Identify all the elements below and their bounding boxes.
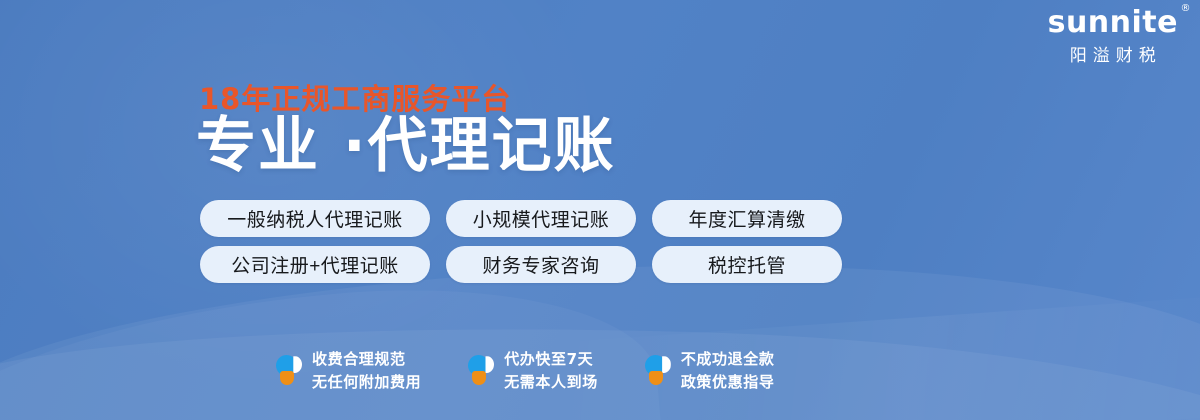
bulb-icon-base xyxy=(649,371,663,385)
feature-item-pricing: 收费合理规范 无任何附加费用 xyxy=(276,348,421,395)
feature-line-2: 无任何附加费用 xyxy=(312,371,421,394)
service-pill-financial-expert-consulting[interactable]: 财务专家咨询 xyxy=(446,246,636,283)
bulb-icon xyxy=(276,354,302,388)
logo-wordmark-text: sunnite xyxy=(1048,5,1178,40)
service-pill-general-taxpayer-bookkeeping[interactable]: 一般纳税人代理记账 xyxy=(200,200,430,237)
service-pill-company-registration-bookkeeping[interactable]: 公司注册+代理记账 xyxy=(200,246,430,283)
feature-line-2: 无需本人到场 xyxy=(504,371,598,394)
feature-item-speed: 代办快至7天 无需本人到场 xyxy=(468,348,598,395)
service-pill-row-1: 一般纳税人代理记账 小规模代理记账 年度汇算清缴 xyxy=(200,200,842,237)
feature-item-guarantee: 不成功退全款 政策优惠指导 xyxy=(645,348,775,395)
feature-text-speed: 代办快至7天 无需本人到场 xyxy=(504,348,598,395)
bulb-icon xyxy=(468,354,494,388)
service-pill-annual-tax-settlement[interactable]: 年度汇算清缴 xyxy=(652,200,842,237)
feature-line-1: 不成功退全款 xyxy=(681,348,775,371)
feature-text-guarantee: 不成功退全款 政策优惠指导 xyxy=(681,348,775,395)
service-pill-small-scale-bookkeeping[interactable]: 小规模代理记账 xyxy=(446,200,636,237)
feature-text-pricing: 收费合理规范 无任何附加费用 xyxy=(312,348,421,395)
feature-line-1: 代办快至7天 xyxy=(504,348,598,371)
logo-wordmark: sunnite ® xyxy=(1048,8,1178,38)
bulb-icon xyxy=(645,354,671,388)
service-pill-group: 一般纳税人代理记账 小规模代理记账 年度汇算清缴 公司注册+代理记账 财务专家咨… xyxy=(200,200,842,283)
bulb-icon-base xyxy=(472,371,486,385)
bulb-icon-base xyxy=(280,371,294,385)
feature-line-1: 收费合理规范 xyxy=(312,348,421,371)
service-pill-tax-control-custody[interactable]: 税控托管 xyxy=(652,246,842,283)
feature-strip: 收费合理规范 无任何附加费用 代办快至7天 无需本人到场 不成功退全款 xyxy=(276,348,774,395)
brand-logo[interactable]: sunnite ® 阳溢财税 xyxy=(1048,8,1178,64)
feature-line-2: 政策优惠指导 xyxy=(681,371,775,394)
page-title: 专业 ·代理记账 xyxy=(196,113,616,179)
service-pill-row-2: 公司注册+代理记账 财务专家咨询 税控托管 xyxy=(200,246,842,283)
logo-subtitle: 阳溢财税 xyxy=(1048,47,1178,64)
promo-banner: sunnite ® 阳溢财税 18年正规工商服务平台 专业 ·代理记账 一般纳税… xyxy=(0,0,1200,420)
registered-trademark-icon: ® xyxy=(1181,4,1192,14)
